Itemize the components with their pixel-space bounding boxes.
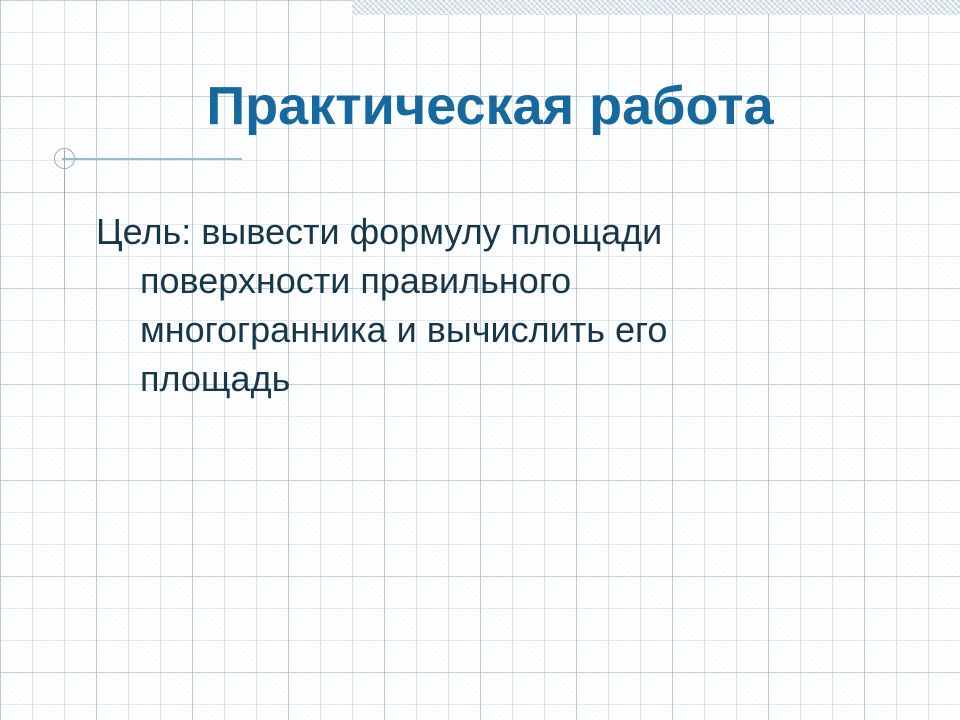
slide-title: Практическая работа xyxy=(0,78,960,135)
decorative-circle-icon xyxy=(54,148,75,169)
slide-body-text: Цель: вывести формулу площади поверхност… xyxy=(96,208,856,404)
body-line: многогранника и вычислить его xyxy=(96,306,856,355)
presentation-slide: Практическая работа Цель: вывести формул… xyxy=(0,0,960,720)
body-line: поверхности правильного xyxy=(96,257,856,306)
decorative-vertical-line xyxy=(64,150,65,360)
body-line: площадь xyxy=(96,355,856,404)
top-decorative-band xyxy=(352,0,960,15)
body-line: Цель: вывести формулу площади xyxy=(96,208,856,257)
title-underline-rule xyxy=(62,158,242,160)
